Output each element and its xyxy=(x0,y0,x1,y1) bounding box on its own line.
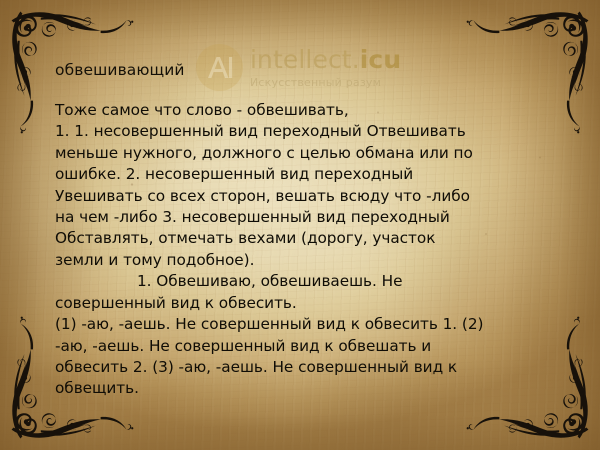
entry-line: обвещить. xyxy=(55,378,550,399)
entry-line: Обставлять, отмечать вехами (дорогу, уча… xyxy=(55,228,550,249)
entry-line: -аю, -аешь. Не совершенный вид к обвешат… xyxy=(55,336,550,357)
entry-line: совершенный вид к обвесить. xyxy=(55,293,550,314)
entry-line: земли и тому подобное). xyxy=(55,250,550,271)
entry-content: обвешивающий Тоже самое что слово - обве… xyxy=(55,62,550,400)
entry-line: Увешивать со всех сторон, вешать всюду ч… xyxy=(55,186,550,207)
entry-line: 1. Обвешиваю, обвешиваешь. Не xyxy=(55,271,550,292)
entry-line: 1. 1. несовершенный вид переходный Отвеш… xyxy=(55,121,550,142)
entry-line: на чем -либо 3. несовершенный вид перехо… xyxy=(55,207,550,228)
entry-line: (1) -аю, -аешь. Не совершенный вид к обв… xyxy=(55,314,550,335)
entry-line: обвесить 2. (3) -аю, -аешь. Не совершенн… xyxy=(55,357,550,378)
entry-body: Тоже самое что слово - обвешивать, 1. 1.… xyxy=(55,100,550,400)
entry-line: Тоже самое что слово - обвешивать, xyxy=(55,100,550,121)
entry-line: ошибке. 2. несовершенный вид переходный xyxy=(55,164,550,185)
parchment-dictionary-card: intellect.icu Искусственный разум обвеши… xyxy=(0,0,600,450)
entry-headword: обвешивающий xyxy=(55,62,550,79)
entry-line: меньше нужного, должного с целью обмана … xyxy=(55,143,550,164)
